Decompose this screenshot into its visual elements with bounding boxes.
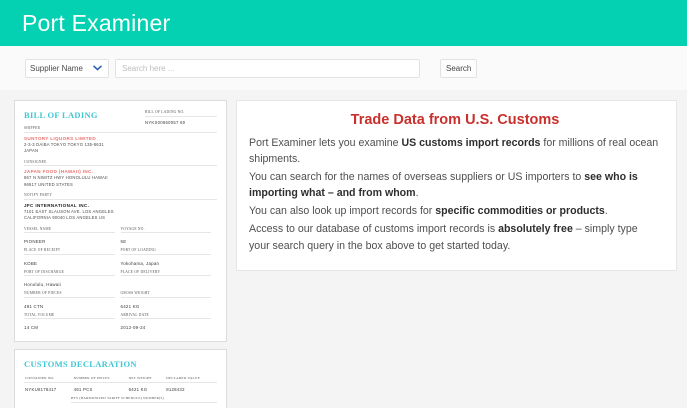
shipper-name: SUNTORY LIQUORS LIMITED bbox=[24, 136, 217, 141]
spec-value-row: Honolulu, Hawaii bbox=[24, 279, 217, 291]
info-emphasis: specific commodities or products bbox=[435, 205, 605, 217]
table-cell: 8128432 bbox=[165, 383, 217, 397]
search-button[interactable]: Search bbox=[440, 59, 477, 78]
spec-label-cell: PLACE OF DELIVERY bbox=[121, 270, 218, 280]
info-paragraph: You can search for the names of overseas… bbox=[249, 169, 661, 201]
notify-party-name: JFC INTERNATIONAL INC. bbox=[24, 203, 217, 208]
customs-declaration-heading: CUSTOMS DECLARATION bbox=[24, 359, 217, 369]
page-title: Trade Data from U.S. Customs bbox=[249, 112, 661, 128]
table-cell: 491 PCS bbox=[73, 383, 128, 397]
table-cell: 6421 KG bbox=[128, 383, 166, 397]
table-cell: NYKU8178417 bbox=[24, 383, 73, 397]
notify-party-label: NOTIFY PARTY bbox=[24, 193, 217, 200]
spec-label-cell: VOYAGE NO. bbox=[121, 227, 218, 237]
search-input[interactable] bbox=[115, 59, 420, 78]
info-paragraph: Access to our database of customs import… bbox=[249, 221, 661, 253]
search-type-select[interactable]: Supplier Name bbox=[25, 59, 109, 78]
spec-field-value: KOBE bbox=[24, 258, 121, 270]
spec-value-row: 14 CM2012-09-24 bbox=[24, 322, 217, 334]
spec-field-value: 14 CM bbox=[24, 322, 121, 334]
search-bar: Supplier Name Search bbox=[0, 46, 687, 90]
spec-value-row: KOBEYokohama, Japan bbox=[24, 258, 217, 270]
info-card: Trade Data from U.S. Customs Port Examin… bbox=[236, 100, 677, 271]
sample-document-column: BILL OF LADING BILL OF LADING NO. NYKS00… bbox=[14, 100, 227, 408]
spec-label-row: PORT OF DISCHARGEPLACE OF DELIVERY bbox=[24, 270, 217, 280]
consignee-name: JAPAN FOOD (HAWAII) INC. bbox=[24, 169, 217, 174]
customs-declaration-card: CUSTOMS DECLARATION CONTAINER NO.NUMBER … bbox=[14, 349, 227, 408]
spec-label-row: PLACE OF RECEIPTPORT OF LOADING bbox=[24, 248, 217, 258]
spec-field-label: ARRIVAL DATE bbox=[121, 313, 212, 320]
bill-of-lading-number-label: BILL OF LADING NO. bbox=[145, 110, 217, 117]
table-column-header: DECLARED VALUE bbox=[165, 375, 217, 383]
info-paragraph: Port Examiner lets you examine US custom… bbox=[249, 135, 661, 167]
info-text: You can search for the names of overseas… bbox=[249, 171, 584, 183]
search-type-label: Supplier Name bbox=[30, 64, 83, 73]
info-text: Port Examiner lets you examine bbox=[249, 137, 402, 149]
spec-field-label: VESSEL NAME bbox=[24, 227, 115, 234]
consignee-address: 867 N NIMITZ HWY HONOLULU HAWAII96817 UN… bbox=[24, 175, 217, 188]
spec-field-label: PLACE OF DELIVERY bbox=[121, 270, 212, 277]
table-column-header: CONTAINER NO. bbox=[24, 375, 73, 383]
info-text: Access to our database of customs import… bbox=[249, 223, 498, 235]
spec-label-cell: NUMBER OF PIECES bbox=[24, 291, 121, 301]
info-emphasis: US customs import records bbox=[402, 137, 541, 149]
customs-hts-section: HTS (HARMONIZED TARIFF SCHEDULE) NUMBER(… bbox=[71, 396, 217, 408]
spec-field-value: 491 CTN bbox=[24, 301, 121, 313]
spec-field-label: PORT OF LOADING bbox=[121, 248, 212, 255]
spec-field-value: Yokohama, Japan bbox=[121, 258, 218, 270]
spec-label-cell: VESSEL NAME bbox=[24, 227, 121, 237]
bill-of-lading-number-box: BILL OF LADING NO. NYKS00660057 60 bbox=[145, 110, 217, 125]
info-paragraph: You can also look up import records for … bbox=[249, 203, 661, 219]
spec-field-label: PORT OF DISCHARGE bbox=[24, 270, 115, 277]
customs-declaration-table: CONTAINER NO.NUMBER OF PIECESNET WEIGHTD… bbox=[24, 375, 217, 396]
spec-field-label: NUMBER OF PIECES bbox=[24, 291, 115, 298]
info-paragraphs: Port Examiner lets you examine US custom… bbox=[249, 135, 661, 254]
spec-label-cell: TOTAL VOLUME bbox=[24, 313, 121, 323]
spec-field-label: TOTAL VOLUME bbox=[24, 313, 115, 320]
bill-of-lading-header-row: BILL OF LADING BILL OF LADING NO. NYKS00… bbox=[24, 110, 217, 126]
spec-label-row: NUMBER OF PIECESGROSS WEIGHT bbox=[24, 291, 217, 301]
spec-field-value: 2012-09-24 bbox=[121, 322, 218, 334]
bill-of-lading-heading: BILL OF LADING bbox=[24, 110, 98, 120]
info-text: . bbox=[605, 205, 608, 217]
shipper-label: SHIPPER bbox=[24, 126, 217, 133]
info-column: Trade Data from U.S. Customs Port Examin… bbox=[236, 100, 687, 408]
bill-of-lading-number-value: NYKS00660057 60 bbox=[145, 120, 217, 125]
spec-field-value bbox=[121, 279, 218, 291]
spec-label-cell: PORT OF LOADING bbox=[121, 248, 218, 258]
spec-label-cell: ARRIVAL DATE bbox=[121, 313, 218, 323]
spec-value-row: 491 CTN6421 KG bbox=[24, 301, 217, 313]
page-body: BILL OF LADING BILL OF LADING NO. NYKS00… bbox=[0, 90, 687, 408]
table-header-row: CONTAINER NO.NUMBER OF PIECESNET WEIGHTD… bbox=[24, 375, 217, 383]
spec-field-value: Honolulu, Hawaii bbox=[24, 279, 121, 291]
site-header: Port Examiner bbox=[0, 0, 687, 46]
notify-party-address: 7101 EAST SLAUSON AVE. LOS ANGELESCALIFO… bbox=[24, 209, 217, 222]
spec-label-row: TOTAL VOLUMEARRIVAL DATE bbox=[24, 313, 217, 323]
hts-label: HTS (HARMONIZED TARIFF SCHEDULE) NUMBER(… bbox=[71, 396, 217, 403]
spec-label-cell: PORT OF DISCHARGE bbox=[24, 270, 121, 280]
shipment-spec-grid: VESSEL NAMEVOYAGE NO.PIONEER5EPLACE OF R… bbox=[24, 227, 217, 335]
spec-field-value: PIONEER bbox=[24, 236, 121, 248]
spec-field-label: GROSS WEIGHT bbox=[121, 291, 212, 298]
spec-label-cell: GROSS WEIGHT bbox=[121, 291, 218, 301]
spec-field-label: VOYAGE NO. bbox=[121, 227, 212, 234]
info-emphasis: absolutely free bbox=[498, 223, 573, 235]
shipper-address: 2-3-3 DAIBA TOKYO TOKYO 135-8631JAPAN bbox=[24, 142, 217, 155]
table-column-header: NUMBER OF PIECES bbox=[73, 375, 128, 383]
spec-field-label: PLACE OF RECEIPT bbox=[24, 248, 115, 255]
table-row: NYKU8178417491 PCS6421 KG8128432 bbox=[24, 383, 217, 397]
site-title: Port Examiner bbox=[22, 10, 170, 37]
info-text: . bbox=[416, 187, 419, 199]
spec-label-row: VESSEL NAMEVOYAGE NO. bbox=[24, 227, 217, 237]
table-column-header: NET WEIGHT bbox=[128, 375, 166, 383]
spec-field-value: 6421 KG bbox=[121, 301, 218, 313]
chevron-down-icon bbox=[93, 65, 102, 71]
spec-field-value: 5E bbox=[121, 236, 218, 248]
spec-label-cell: PLACE OF RECEIPT bbox=[24, 248, 121, 258]
bill-of-lading-card: BILL OF LADING BILL OF LADING NO. NYKS00… bbox=[14, 100, 227, 342]
spec-value-row: PIONEER5E bbox=[24, 236, 217, 248]
consignee-label: CONSIGNEE bbox=[24, 160, 217, 167]
info-text: You can also look up import records for bbox=[249, 205, 435, 217]
